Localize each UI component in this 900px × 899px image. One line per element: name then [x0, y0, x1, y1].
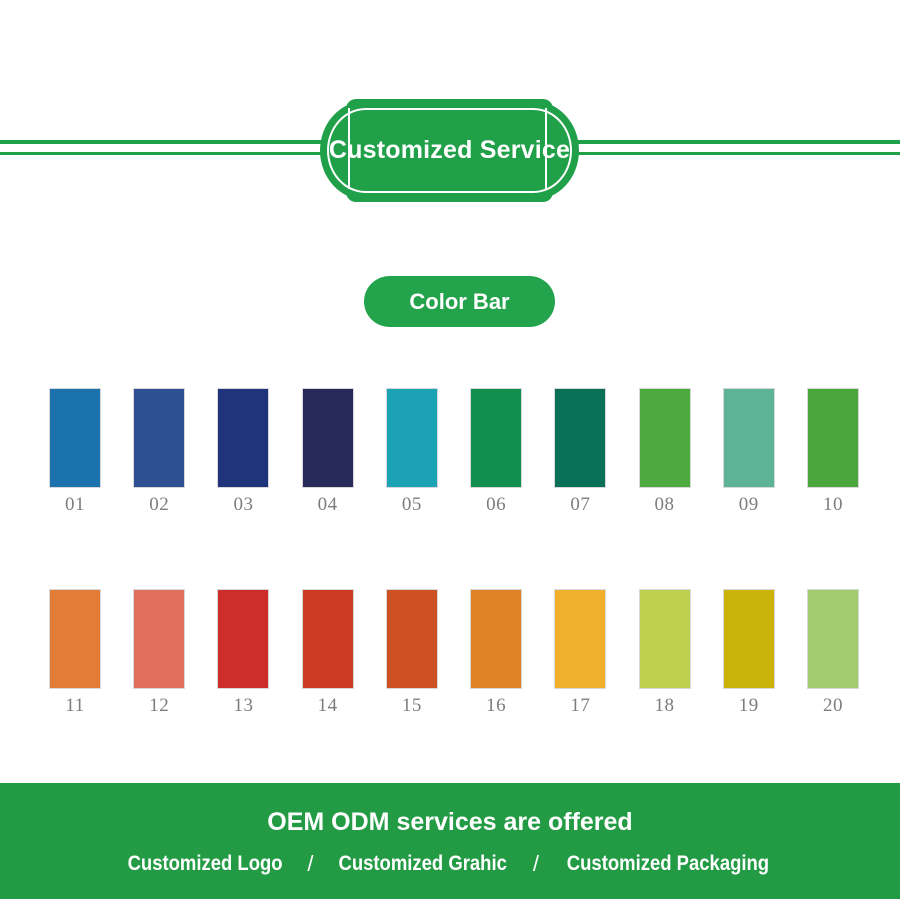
footer-separator: /: [293, 851, 327, 877]
color-swatch-chip[interactable]: [639, 589, 691, 689]
color-swatch-07[interactable]: 07: [554, 388, 606, 518]
color-swatch-label: 01: [65, 494, 85, 516]
color-swatch-label: 18: [655, 695, 675, 717]
header-section: Customized Service: [0, 0, 900, 240]
swatch-row-cool: 01020304050607080910: [49, 388, 859, 518]
header-rule-line-bottom: [565, 152, 900, 155]
color-swatch-chip[interactable]: [217, 589, 269, 689]
header-rule-left: [0, 140, 335, 161]
color-swatch-label: 12: [149, 695, 169, 717]
footer-banner: OEM ODM services are offered Customized …: [0, 783, 900, 899]
color-swatch-label: 07: [570, 494, 590, 516]
color-swatch-chip[interactable]: [217, 388, 269, 488]
color-swatch-chip[interactable]: [386, 589, 438, 689]
color-swatch-17[interactable]: 17: [554, 589, 606, 719]
footer-separator: /: [519, 851, 553, 877]
header-rule-line-top: [0, 140, 335, 144]
color-swatch-label: 06: [486, 494, 506, 516]
color-swatch-label: 09: [739, 494, 759, 516]
color-swatch-label: 16: [486, 695, 506, 717]
color-swatch-label: 15: [402, 695, 422, 717]
color-swatch-label: 11: [65, 695, 84, 717]
footer-service-list: Customized Logo/Customized Grahic/Custom…: [117, 851, 783, 877]
color-swatch-16[interactable]: 16: [470, 589, 522, 719]
color-swatch-09[interactable]: 09: [723, 388, 775, 518]
footer-headline: OEM ODM services are offered: [267, 808, 632, 837]
color-swatch-label: 02: [149, 494, 169, 516]
color-swatch-chip[interactable]: [49, 388, 101, 488]
color-swatch-chip[interactable]: [470, 589, 522, 689]
color-swatch-02[interactable]: 02: [133, 388, 185, 518]
color-swatch-chip[interactable]: [133, 388, 185, 488]
footer-service-item: Customized Logo: [128, 852, 283, 876]
color-swatch-label: 10: [823, 494, 843, 516]
color-swatch-label: 03: [233, 494, 253, 516]
color-swatch-03[interactable]: 03: [217, 388, 269, 518]
swatch-row-warm: 11121314151617181920: [49, 589, 859, 719]
color-swatch-chip[interactable]: [723, 589, 775, 689]
color-swatch-chip[interactable]: [302, 589, 354, 689]
title-plaque: Customized Service: [320, 101, 579, 200]
header-rule-line-top: [565, 140, 900, 144]
footer-service-item: Customized Packaging: [567, 852, 769, 876]
color-swatch-label: 14: [318, 695, 338, 717]
color-swatch-15[interactable]: 15: [386, 589, 438, 719]
color-swatch-06[interactable]: 06: [470, 388, 522, 518]
color-swatch-01[interactable]: 01: [49, 388, 101, 518]
color-swatch-11[interactable]: 11: [49, 589, 101, 719]
color-swatch-10[interactable]: 10: [807, 388, 859, 518]
color-swatch-chip[interactable]: [723, 388, 775, 488]
color-swatch-05[interactable]: 05: [386, 388, 438, 518]
color-swatch-chip[interactable]: [554, 589, 606, 689]
header-rule-line-bottom: [0, 152, 335, 155]
color-swatch-chip[interactable]: [554, 388, 606, 488]
color-swatch-chip[interactable]: [639, 388, 691, 488]
color-swatch-chip[interactable]: [302, 388, 354, 488]
color-swatch-label: 05: [402, 494, 422, 516]
footer-service-item: Customized Grahic: [339, 852, 507, 876]
color-swatch-chip[interactable]: [807, 388, 859, 488]
color-swatch-label: 08: [655, 494, 675, 516]
color-swatch-chip[interactable]: [133, 589, 185, 689]
color-swatch-chip[interactable]: [807, 589, 859, 689]
color-swatch-chip[interactable]: [470, 388, 522, 488]
color-swatch-label: 17: [570, 695, 590, 717]
color-bar-pill: Color Bar: [364, 276, 555, 327]
color-swatch-label: 13: [233, 695, 253, 717]
color-swatch-label: 04: [318, 494, 338, 516]
color-bar-label: Color Bar: [409, 289, 509, 315]
color-swatch-14[interactable]: 14: [302, 589, 354, 719]
header-rule-right: [565, 140, 900, 161]
color-swatch-label: 20: [823, 695, 843, 717]
color-swatch-18[interactable]: 18: [639, 589, 691, 719]
color-swatch-12[interactable]: 12: [133, 589, 185, 719]
color-swatch-19[interactable]: 19: [723, 589, 775, 719]
color-swatch-13[interactable]: 13: [217, 589, 269, 719]
color-swatch-08[interactable]: 08: [639, 388, 691, 518]
color-swatch-20[interactable]: 20: [807, 589, 859, 719]
color-swatch-04[interactable]: 04: [302, 388, 354, 518]
color-swatch-chip[interactable]: [386, 388, 438, 488]
page-title: Customized Service: [320, 101, 579, 200]
color-swatch-chip[interactable]: [49, 589, 101, 689]
color-swatch-label: 19: [739, 695, 759, 717]
